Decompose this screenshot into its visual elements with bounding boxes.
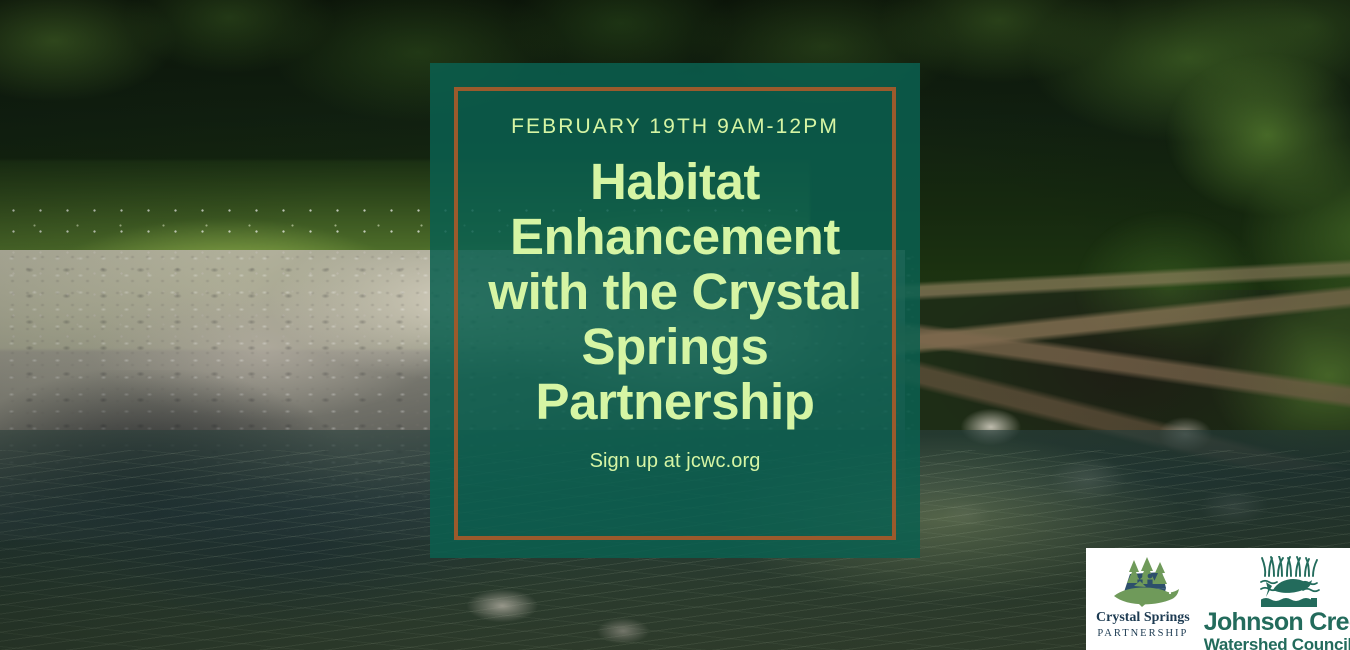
headline-line: with the Crystal (475, 264, 875, 319)
headline-line: Enhancement (475, 209, 875, 264)
event-info-card: FEBRUARY 19TH 9AM-12PM Habitat Enhanceme… (430, 63, 920, 558)
headline-line: Habitat (475, 154, 875, 209)
johnson-creek-mark-icon (1255, 556, 1323, 608)
johnson-creek-logo[interactable]: Johnson Creek Watershed Council (1204, 556, 1350, 650)
johnson-creek-name: Johnson Creek (1204, 610, 1350, 635)
event-date-time: FEBRUARY 19TH 9AM-12PM (511, 116, 839, 137)
event-poster: FEBRUARY 19TH 9AM-12PM Habitat Enhanceme… (0, 0, 1350, 650)
page-title: Habitat Enhancement with the Crystal Spr… (475, 154, 875, 429)
crystal-springs-subtitle: PARTNERSHIP (1097, 628, 1188, 639)
sponsor-logo-panel: Crystal Springs PARTNERSHIP (1086, 548, 1350, 650)
crystal-springs-mark-icon (1100, 556, 1186, 610)
headline-line: Springs (475, 319, 875, 374)
signup-link-text[interactable]: Sign up at jcwc.org (590, 450, 761, 473)
crystal-springs-logo[interactable]: Crystal Springs PARTNERSHIP (1096, 556, 1190, 639)
headline-line: Partnership (475, 374, 875, 429)
crystal-springs-name: Crystal Springs (1096, 611, 1190, 626)
johnson-creek-subtitle: Watershed Council (1204, 636, 1350, 650)
